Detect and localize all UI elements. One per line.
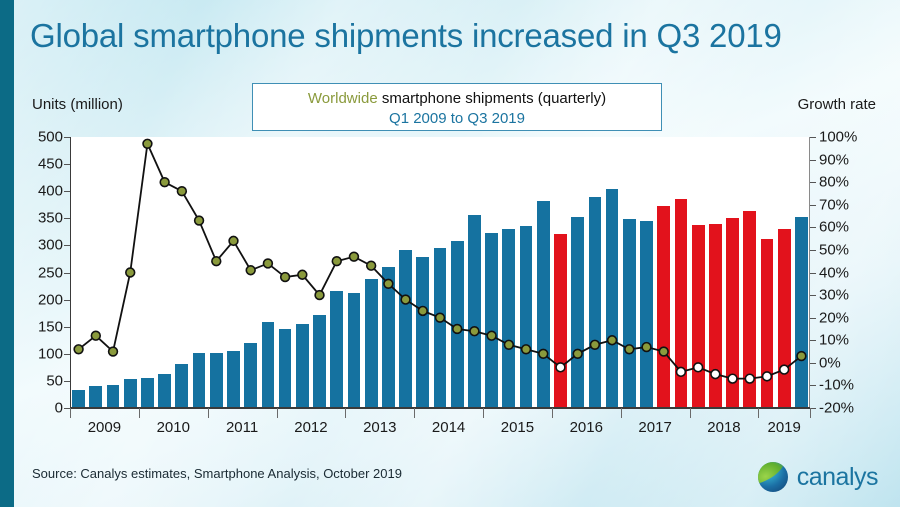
right-axis-tick-label: 70% bbox=[819, 196, 849, 213]
x-axis-year-label-2013: 2013 bbox=[363, 419, 396, 436]
subtitle-rest: smartphone shipments (quarterly) bbox=[378, 90, 606, 107]
year-divider bbox=[345, 408, 346, 418]
year-divider bbox=[70, 408, 71, 418]
year-divider bbox=[810, 408, 811, 418]
slide-canvas: Global smartphone shipments increased in… bbox=[0, 0, 900, 507]
growth-marker-q4-2016[interactable]: Q4 2016: 10% bbox=[608, 336, 617, 345]
page-title: Global smartphone shipments increased in… bbox=[30, 16, 890, 56]
growth-marker-q2-2014[interactable]: Q2 2014: 20% bbox=[436, 313, 445, 322]
x-axis-year-label-2018: 2018 bbox=[707, 419, 740, 436]
growth-marker-q1-2018[interactable]: Q1 2018: -2% bbox=[694, 363, 703, 372]
canalys-logo: canalys bbox=[758, 462, 878, 492]
left-axis-line bbox=[70, 137, 71, 408]
growth-marker-q3-2015[interactable]: Q3 2015: 6% bbox=[522, 345, 531, 354]
growth-marker-q2-2016[interactable]: Q2 2016: 4% bbox=[573, 349, 582, 358]
right-tick-mark bbox=[810, 295, 816, 296]
chart-subtitle-line1: Worldwide smartphone shipments (quarterl… bbox=[253, 89, 661, 109]
year-divider bbox=[758, 408, 759, 418]
year-divider bbox=[621, 408, 622, 418]
x-axis-year-label-2012: 2012 bbox=[294, 419, 327, 436]
growth-marker-q2-2019[interactable]: Q2 2019: -3% bbox=[780, 365, 789, 374]
growth-marker-q1-2012[interactable]: Q1 2012: 38% bbox=[281, 273, 290, 282]
year-divider bbox=[483, 408, 484, 418]
left-axis-tick-label: 400 bbox=[38, 183, 63, 200]
growth-marker-q4-2010[interactable]: Q4 2010: 63% bbox=[195, 216, 204, 225]
right-tick-mark bbox=[810, 273, 816, 274]
growth-marker-q4-2014[interactable]: Q4 2014: 14% bbox=[470, 327, 479, 336]
right-axis-tick-label: 20% bbox=[819, 309, 849, 326]
growth-marker-q1-2015[interactable]: Q1 2015: 12% bbox=[487, 331, 496, 340]
left-axis-title: Units (million) bbox=[32, 96, 123, 113]
growth-marker-q3-2010[interactable]: Q3 2010: 76% bbox=[177, 187, 186, 196]
chart-subtitle-line2: Q1 2009 to Q3 2019 bbox=[253, 109, 661, 129]
right-axis-tick-label: 0% bbox=[819, 354, 841, 371]
left-accent-bar bbox=[0, 0, 14, 507]
right-tick-mark bbox=[810, 182, 816, 183]
year-divider bbox=[139, 408, 140, 418]
right-tick-mark bbox=[810, 318, 816, 319]
right-axis-tick-label: 50% bbox=[819, 241, 849, 258]
subtitle-highlight: Worldwide bbox=[308, 90, 378, 107]
growth-marker-q2-2012[interactable]: Q2 2012: 39% bbox=[298, 270, 307, 279]
left-axis-tick-label: 450 bbox=[38, 156, 63, 173]
growth-marker-q1-2014[interactable]: Q1 2014: 23% bbox=[418, 306, 427, 315]
right-axis-line bbox=[809, 137, 810, 408]
year-divider bbox=[208, 408, 209, 418]
x-axis-year-label-2009: 2009 bbox=[88, 419, 121, 436]
year-divider bbox=[277, 408, 278, 418]
left-axis-tick-label: 150 bbox=[38, 318, 63, 335]
chart-subtitle-box: Worldwide smartphone shipments (quarterl… bbox=[252, 83, 662, 131]
growth-marker-q3-2009[interactable]: Q3 2009: 5% bbox=[109, 347, 118, 356]
growth-marker-q2-2015[interactable]: Q2 2015: 8% bbox=[504, 340, 513, 349]
right-tick-mark bbox=[810, 385, 816, 386]
left-axis-tick-label: 200 bbox=[38, 291, 63, 308]
growth-marker-q4-2013[interactable]: Q4 2013: 28% bbox=[401, 295, 410, 304]
growth-marker-q2-2018[interactable]: Q2 2018: -5% bbox=[711, 370, 720, 379]
x-axis-year-label-2016: 2016 bbox=[570, 419, 603, 436]
right-axis-tick-label: -20% bbox=[819, 400, 854, 417]
right-axis-tick-label: 40% bbox=[819, 264, 849, 281]
right-axis-tick-label: 60% bbox=[819, 219, 849, 236]
growth-marker-q3-2019[interactable]: Q3 2019: 3% bbox=[797, 352, 806, 361]
right-axis-tick-label: 90% bbox=[819, 151, 849, 168]
growth-marker-q3-2018[interactable]: Q3 2018: -7% bbox=[728, 374, 737, 383]
source-note: Source: Canalys estimates, Smartphone An… bbox=[32, 466, 402, 481]
growth-marker-q3-2011[interactable]: Q3 2011: 41% bbox=[246, 266, 255, 275]
x-axis-year-label-2015: 2015 bbox=[501, 419, 534, 436]
year-divider bbox=[414, 408, 415, 418]
year-divider bbox=[690, 408, 691, 418]
right-axis-tick-label: 80% bbox=[819, 174, 849, 191]
left-axis-tick-label: 100 bbox=[38, 345, 63, 362]
growth-marker-q2-2009[interactable]: Q2 2009: 12% bbox=[91, 331, 100, 340]
growth-marker-q1-2009[interactable]: Q1 2009: 6% bbox=[74, 345, 83, 354]
growth-marker-q2-2017[interactable]: Q2 2017: 7% bbox=[642, 343, 651, 352]
left-axis-tick-label: 250 bbox=[38, 264, 63, 281]
growth-marker-q4-2018[interactable]: Q4 2018: -7% bbox=[745, 374, 754, 383]
right-tick-mark bbox=[810, 340, 816, 341]
right-tick-mark bbox=[810, 205, 816, 206]
right-tick-mark bbox=[810, 363, 816, 364]
growth-marker-q1-2010[interactable]: Q1 2010: 97% bbox=[143, 139, 152, 148]
right-axis-tick-label: -10% bbox=[819, 377, 854, 394]
right-tick-mark bbox=[810, 250, 816, 251]
left-axis-tick-label: 350 bbox=[38, 210, 63, 227]
growth-marker-q4-2015[interactable]: Q4 2015: 4% bbox=[539, 349, 548, 358]
x-axis-year-label-2019: 2019 bbox=[767, 419, 800, 436]
plot-area: 050100150200250300350400450500 -20%-10%0… bbox=[70, 137, 810, 408]
right-tick-mark bbox=[810, 227, 816, 228]
right-axis-tick-label: 10% bbox=[819, 332, 849, 349]
x-axis-year-label-2014: 2014 bbox=[432, 419, 465, 436]
growth-marker-q1-2013[interactable]: Q1 2013: 47% bbox=[350, 252, 359, 261]
x-axis-year-label-2017: 2017 bbox=[638, 419, 671, 436]
category-axis: 2009201020112012201320142015201620172018… bbox=[70, 408, 810, 430]
growth-marker-q3-2014[interactable]: Q3 2014: 15% bbox=[453, 325, 462, 334]
left-axis-tick-label: 50 bbox=[46, 372, 63, 389]
x-axis-year-label-2011: 2011 bbox=[226, 419, 258, 436]
growth-marker-q2-2011[interactable]: Q2 2011: 54% bbox=[229, 236, 238, 245]
left-axis-tick-label: 300 bbox=[38, 237, 63, 254]
growth-marker-q3-2013[interactable]: Q3 2013: 35% bbox=[384, 279, 393, 288]
right-axis-title: Growth rate bbox=[798, 96, 876, 113]
growth-marker-q2-2010[interactable]: Q2 2010: 80% bbox=[160, 178, 169, 187]
growth-line-series: Q1 2009: 6%Q2 2009: 12%Q3 2009: 5%Q4 200… bbox=[70, 137, 810, 408]
growth-marker-q4-2012[interactable]: Q4 2012: 45% bbox=[332, 257, 341, 266]
growth-marker-q4-2009[interactable]: Q4 2009: 40% bbox=[126, 268, 135, 277]
right-axis-tick-label: 100% bbox=[819, 129, 857, 146]
growth-marker-q3-2017[interactable]: Q3 2017: 5% bbox=[659, 347, 668, 356]
growth-marker-q4-2011[interactable]: Q4 2011: 44% bbox=[264, 259, 273, 268]
canalys-sphere-icon bbox=[758, 462, 788, 492]
x-axis-year-label-2010: 2010 bbox=[157, 419, 190, 436]
growth-marker-q1-2019[interactable]: Q1 2019: -6% bbox=[763, 372, 772, 381]
right-tick-mark bbox=[810, 137, 816, 138]
growth-marker-q4-2017[interactable]: Q4 2017: -4% bbox=[677, 367, 686, 376]
year-divider bbox=[552, 408, 553, 418]
left-axis-tick-label: 500 bbox=[38, 129, 63, 146]
growth-marker-q1-2016[interactable]: Q1 2016: -2% bbox=[556, 363, 565, 372]
growth-line-path bbox=[79, 144, 802, 379]
growth-marker-q1-2017[interactable]: Q1 2017: 6% bbox=[625, 345, 634, 354]
growth-marker-q1-2011[interactable]: Q1 2011: 45% bbox=[212, 257, 221, 266]
left-axis-tick-label: 0 bbox=[55, 400, 63, 417]
growth-marker-q3-2016[interactable]: Q3 2016: 8% bbox=[590, 340, 599, 349]
right-tick-mark bbox=[810, 160, 816, 161]
right-axis-tick-label: 30% bbox=[819, 287, 849, 304]
growth-marker-q2-2013[interactable]: Q2 2013: 43% bbox=[367, 261, 376, 270]
growth-marker-q3-2012[interactable]: Q3 2012: 30% bbox=[315, 291, 324, 300]
canalys-wordmark: canalys bbox=[797, 463, 878, 492]
